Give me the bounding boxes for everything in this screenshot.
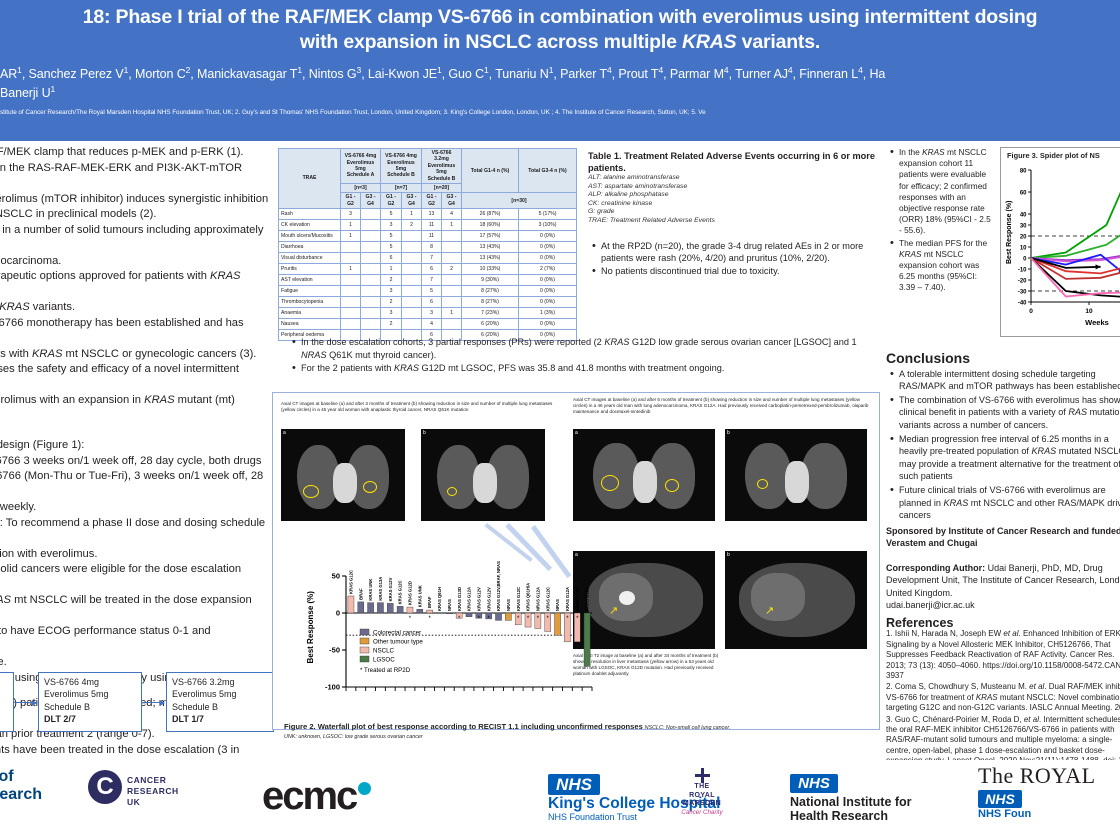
table-row: Mouth ulcers/Mucositis151117 (57%)0 (0%): [279, 231, 577, 242]
marsden-line1: THE: [660, 783, 744, 792]
rp2d-marker: *: [428, 616, 431, 622]
table-row: Nausea246 (20%)0 (0%): [279, 319, 577, 330]
cell-a-g12: 3: [341, 209, 361, 220]
cell-trae: Nausea: [279, 319, 341, 330]
cell-a-g34: [361, 275, 381, 286]
cell-total-g14: 8 (27%): [462, 286, 519, 297]
cell-a-g12: 1: [341, 231, 361, 242]
nihr-line1: National Institute for: [790, 795, 912, 809]
cell-c-g34: [442, 286, 462, 297]
cell-b-g34: [402, 308, 422, 319]
lesion-circle: [303, 485, 319, 498]
lesion-circle: [665, 479, 679, 492]
y-axis-tick: 60: [1020, 190, 1027, 196]
schema-box-1: VS-6766 4mg Everolimus 5mg Schedule A: [0, 672, 14, 732]
abbreviation: AST: aspartate aminotransferase: [588, 183, 880, 192]
text-line: This study assesses the safety and effic…: [0, 362, 272, 393]
cell-a-g12: [341, 297, 361, 308]
legend-label: NSCLC: [373, 647, 395, 654]
cell-total-g34: 0 (0%): [519, 286, 577, 297]
cell-total-g34: 0 (0%): [519, 242, 577, 253]
ecmc-logo-dot: [358, 782, 371, 795]
th-total-g34: Total G3-4 n (%): [519, 149, 577, 193]
cell-c-g34: 4: [442, 209, 462, 220]
ct-caption-b: Axial CT images at baseline (a) and afte…: [573, 397, 869, 415]
cruk-logo-mark: C: [88, 770, 122, 804]
text-line: VS-6766 with everolimus (mTOR inhibitor)…: [0, 192, 272, 208]
text-line: 6766 in combination with everolimus.: [0, 547, 272, 563]
cell-c-g12: 11: [422, 231, 442, 242]
waterfall-bar: [377, 603, 383, 613]
waterfall-bar: [555, 613, 561, 635]
cell-b-g12: 3: [381, 308, 402, 319]
cell-total-g14: 17 (57%): [462, 231, 519, 242]
waterfall-bar: [348, 596, 354, 613]
mri-tag-b: b: [727, 552, 730, 558]
schema-arrow-1: [14, 702, 36, 703]
y-axis-label: Best Response (%): [1006, 201, 1013, 264]
cell-trae: Anaemia: [279, 308, 341, 319]
cell-b-g12: 5: [381, 242, 402, 253]
cell-b-g34: [402, 297, 422, 308]
bar-category-label: KRAS Q61H/A: [526, 583, 531, 611]
ct-image-b-post: b: [725, 429, 867, 521]
cell-total-g34: 0 (0%): [519, 253, 577, 264]
list-item: The median PFS for the KRAS mt NSCLC exp…: [899, 238, 994, 294]
y-axis-tick: 40: [1020, 212, 1027, 218]
cell-c-g34: 1: [442, 308, 462, 319]
waterfall-bar: [427, 610, 433, 613]
icr-logo: ute of Research: [0, 768, 90, 804]
cell-trae: CK elevation: [279, 220, 341, 231]
text-line: There are no therapeutic options approve…: [0, 269, 272, 300]
cell-b-g12: 3: [381, 220, 402, 231]
th-group-3: VS-6766 3.2mgEverolimus5mgSchedule B: [422, 149, 462, 184]
y-axis-tick: -100: [325, 683, 340, 692]
author-list: AR1, Sanchez Perez V1, Morton C2, Manick…: [0, 55, 1120, 103]
footer-logos: ute of Research C CANCER RESEARCH UK ecm…: [0, 760, 1120, 830]
bar-category-label: KRAS G12C: [545, 587, 550, 611]
cell-a-g34: [361, 264, 381, 275]
legend-label: LGSOC: [373, 656, 395, 663]
cell-total-g34: 3 (10%): [519, 220, 577, 231]
cell-c-g12: 3: [422, 308, 442, 319]
poster-title-line1: 18: Phase I trial of the RAF/MEK clamp V…: [83, 6, 1038, 28]
schema-box-3-dlt: DLT 1/7: [172, 713, 268, 725]
waterfall-bar: [446, 613, 452, 614]
cell-total-g14: 13 (43%): [462, 242, 519, 253]
table-row: Anaemia3317 (23%)1 (3%): [279, 308, 577, 319]
cell-c-g34: 1: [442, 220, 462, 231]
y-axis-tick: -10: [1018, 267, 1027, 273]
text-line: KRAS is mutated in a number of solid tum…: [0, 223, 272, 254]
text-line: VS-6766 and everolimus with an expansion…: [0, 393, 272, 424]
cell-c-g12: 6: [422, 264, 442, 275]
cell-b-g34: [402, 286, 422, 297]
cell-c-g34: [442, 319, 462, 330]
corresponding-author-label: Corresponding Author:: [886, 563, 985, 573]
bar-category-label: KRAS G12C: [398, 580, 403, 604]
text-line: of cell growth in NSCLC in preclinical m…: [0, 207, 272, 223]
schema-box-3-line2: Everolimus 5mg: [172, 688, 268, 700]
kras-expansion-bullets: In the KRAS mt NSCLC expansion cohort 11…: [886, 147, 994, 295]
table-row: Visual disturbance6713 (43%)0 (0%): [279, 253, 577, 264]
study-design-section: Dose escalation design (Figure 1):Schedu…: [0, 438, 272, 686]
marsden-line4: Cancer Charity: [660, 809, 744, 816]
cell-total-g34: 2 (7%): [519, 264, 577, 275]
th-trae: TRAE: [279, 149, 341, 209]
cell-b-g12: 2: [381, 319, 402, 330]
th-total-g14: Total G1-4 n (%): [462, 149, 519, 193]
cell-c-g34: [442, 275, 462, 286]
cell-a-g34: [361, 209, 381, 220]
kch-nhs-box: NHS: [548, 774, 600, 795]
waterfall-bar: [495, 613, 501, 620]
cell-total-g14: 7 (23%): [462, 308, 519, 319]
rp2d-bullets: At the RP2D (n=20), the grade 3-4 drug r…: [588, 240, 880, 278]
cell-trae: Visual disturbance: [279, 253, 341, 264]
y-axis-tick: -20: [1018, 278, 1027, 284]
cell-a-g34: [361, 253, 381, 264]
rp2d-marker: *: [409, 616, 412, 622]
waterfall-bar: [397, 606, 403, 613]
conclusions-heading: Conclusions: [886, 352, 1120, 365]
bar-category-label: NRAS: [555, 599, 560, 611]
bar-category-label: KRAS G12D: [585, 587, 590, 611]
text-line: VS-6766 is a RAF/MEK clamp that reduces …: [0, 145, 272, 161]
abbreviation: ALP: alkaline phosphatase: [588, 191, 880, 200]
cell-total-g34: 0 (0%): [519, 319, 577, 330]
cell-total-g14: 8 (27%): [462, 297, 519, 308]
cell-trae: AST elevation: [279, 275, 341, 286]
text-line: Patients with all solid cancers were eli…: [0, 562, 272, 593]
ct-tag-a1: a: [283, 430, 286, 436]
y-axis-label: Best Response (%): [306, 591, 315, 664]
text-line: Primary objective: To recommend a phase …: [0, 516, 272, 547]
cell-b-g34: 2: [402, 220, 422, 231]
ct-tag-a2: b: [423, 430, 426, 436]
marsden-cross-icon: [695, 768, 710, 783]
bar-category-label: NRAS: [447, 599, 452, 611]
th-g3-g34: G3 - G4: [442, 193, 462, 209]
cell-trae: Diarrhoea: [279, 242, 341, 253]
study-schema-diagram: VS-6766 4mg Everolimus 5mg Schedule A VS…: [0, 672, 280, 732]
poster-header: 18: Phase I trial of the RAF/MEK clamp V…: [0, 0, 1120, 141]
cell-a-g12: [341, 319, 361, 330]
ct-tag-b2: b: [727, 430, 730, 436]
y-axis-tick: -50: [329, 646, 340, 655]
list-item: A tolerable intermittent dosing schedule…: [899, 368, 1120, 393]
cell-total-g34: 0 (0%): [519, 231, 577, 242]
text-line: Schedule A: VS-6766 3 weeks on/1 week of…: [0, 454, 272, 470]
cell-a-g34: [361, 242, 381, 253]
bar-category-label: KRAS G12D: [408, 581, 413, 605]
cell-c-g34: [442, 231, 462, 242]
cell-b-g34: [402, 231, 422, 242]
y-axis-tick: 10: [1020, 245, 1027, 251]
icr-logo-line2: Research: [0, 786, 90, 804]
cell-b-g12: 2: [381, 297, 402, 308]
schema-arrow-2: [142, 702, 164, 703]
table-row: AST elevation279 (30%)0 (0%): [279, 275, 577, 286]
cell-a-g34: [361, 220, 381, 231]
bar-category-label: KRAS G13A: [378, 577, 383, 601]
cell-total-g34: 0 (0%): [519, 275, 577, 286]
waterfall-bar: [387, 603, 393, 613]
ct-image-b-baseline: a: [573, 429, 715, 521]
table-row: Thrombocytopenia268 (27%)0 (0%): [279, 297, 577, 308]
list-item: For the 2 patients with KRAS G12D mt LGS…: [301, 362, 878, 375]
cell-a-g34: [361, 297, 381, 308]
cell-a-g12: [341, 253, 361, 264]
table1-abbreviations: ALT: alanine aminotransferaseAST: aspart…: [588, 174, 880, 226]
cell-total-g14: 10 (33%): [462, 264, 519, 275]
schema-box-2-line1: VS-6766 4mg: [44, 676, 136, 688]
poster-title: 18: Phase I trial of the RAF/MEK clamp V…: [0, 0, 1120, 55]
bar-category-label: KRAS G12C: [516, 587, 521, 611]
waterfall-bar: [417, 609, 423, 613]
text-line: An RP2D for VS-6766 monotherapy has been…: [0, 316, 272, 347]
cell-total-g34: 5 (17%): [519, 209, 577, 220]
cell-c-g34: 2: [442, 264, 462, 275]
corresponding-author: Corresponding Author: Udai Banerji, PhD,…: [886, 562, 1120, 612]
ecmc-logo-text: ecmc: [262, 774, 356, 818]
text-line: Patients with KRAS mt NSCLC will be trea…: [0, 593, 272, 624]
schema-box-3: VS-6766 3.2mg Everolimus 5mg Schedule B …: [166, 672, 274, 732]
cell-a-g12: [341, 275, 361, 286]
bar-category-label: NRAS: [506, 599, 511, 611]
figure2-caption-abbr1: NSCLC: Non-small cell lung cancer.: [645, 725, 731, 731]
cell-b-g12: 5: [381, 209, 402, 220]
bar-category-label: KRAS G12V: [388, 577, 393, 601]
schema-box-2: VS-6766 4mg Everolimus 5mg Schedule B DL…: [38, 672, 142, 732]
cell-a-g12: 1: [341, 220, 361, 231]
y-axis-tick: 80: [1020, 168, 1027, 174]
y-axis-tick: 50: [332, 572, 340, 581]
reference-item: 3. Guo C, Chénard-Poirier M, Roda D, et …: [886, 715, 1120, 767]
cell-trae: Thrombocytopenia: [279, 297, 341, 308]
cell-c-g12: 5: [422, 286, 442, 297]
corresponding-author-email[interactable]: udai.banerji@icr.ac.uk: [886, 600, 975, 610]
affiliations: stitute of Cancer Research/The Royal Mar…: [0, 103, 1120, 117]
y-axis-tick: 0: [336, 609, 340, 618]
th-g2-g34: G3 - G4: [402, 193, 422, 209]
nihr-nhs-box: NHS: [790, 774, 838, 793]
list-item: No patients discontinued trial due to to…: [601, 265, 880, 277]
bar-category-label: KRAS Q61H: [437, 587, 442, 611]
list-item: At the RP2D (n=20), the grade 3-4 drug r…: [601, 240, 880, 265]
cell-b-g34: [402, 319, 422, 330]
bar-category-label: KRAS G13D: [457, 587, 462, 611]
series-arrow: [1096, 264, 1101, 269]
table-row: CK elevation13211118 (60%)3 (10%): [279, 220, 577, 231]
cell-b-g12: 1: [381, 264, 402, 275]
list-item: In the KRAS mt NSCLC expansion cohort 11…: [899, 147, 994, 237]
y-axis-tick: 0: [1023, 256, 1027, 262]
text-line: Crosstalk between the RAS-RAF-MEK-ERK an…: [0, 161, 272, 192]
poster-title-line2: with expansion in NSCLC across multiple …: [0, 30, 1120, 55]
cell-c-g12: 6: [422, 297, 442, 308]
table1-legend: Table 1. Treatment Related Adverse Event…: [588, 150, 880, 278]
figure3-caption: Figure 3. Spider plot of NS: [1007, 151, 1100, 160]
bar-category-label: KRAS G12V: [486, 587, 491, 611]
cell-a-g12: [341, 242, 361, 253]
list-item: The combination of VS-6766 with everolim…: [899, 394, 1120, 432]
bar-category-label: KRAS G12V: [476, 587, 481, 611]
sponsor-statement: Sponsored by Institute of Cancer Researc…: [886, 525, 1120, 549]
y-axis-tick: -40: [1018, 300, 1027, 306]
abbreviation: CK: creatinine kinase: [588, 200, 880, 209]
schema-box-2-dlt: DLT 2/7: [44, 713, 136, 725]
marsden-line3: MARSDEN: [660, 800, 744, 809]
schema-box-1-line2: Everolimus 5mg: [0, 688, 8, 700]
cell-c-g12: 7: [422, 275, 442, 286]
cell-total-g14: 18 (60%): [462, 220, 519, 231]
royal-line1: The ROYAL: [978, 764, 1096, 788]
schema-box-1-line1: VS-6766 4mg: [0, 676, 8, 688]
text-line: efficacy in patients with KRAS mt NSCLC …: [0, 347, 272, 363]
cell-trae: Pruritis: [279, 264, 341, 275]
cell-b-g12: 3: [381, 286, 402, 297]
table1-caption: Table 1. Treatment Related Adverse Event…: [588, 150, 880, 174]
th-group-2-n: [n=7]: [381, 184, 422, 193]
bar-category-label: KRAS G12A: [565, 587, 570, 611]
figure2-caption-abbr2: UNK: unknown, LGSOC: low grade serous ov…: [284, 734, 423, 740]
cell-total-g34: 0 (0%): [519, 297, 577, 308]
th-total-n: [n=30]: [462, 193, 577, 209]
bar-category-label: KRAS G12V,BRAF, NRAS: [496, 561, 501, 611]
ct-tag-b1: a: [575, 430, 578, 436]
cell-a-g34: [361, 286, 381, 297]
th-g2-g12: G1 - G2: [381, 193, 402, 209]
reference-item: 1. Ishii N, Harada N, Joseph EW et al. E…: [886, 629, 1120, 681]
waterfall-chart: -100-50050KRAS G12CBRAFKRAS UNKKRAS G13A…: [300, 540, 600, 715]
royal-nhs-box: NHS: [978, 790, 1022, 808]
cell-trae: Fatigue: [279, 286, 341, 297]
text-line: third of lung adenocarcinoma.: [0, 254, 272, 270]
reference-item: 2. Coma S, Chowdhury S, Musteanu M. et a…: [886, 682, 1120, 713]
cell-c-g12: 8: [422, 242, 442, 253]
schema-box-2-line2: Everolimus 5mg: [44, 688, 136, 700]
waterfall-svg: -100-50050KRAS G12CBRAFKRAS UNKKRAS G13A…: [300, 540, 600, 715]
nihr-line2: Health Research: [790, 809, 912, 823]
spider-plot-svg: -40-30-20-100102030406080010Best Respons…: [1001, 164, 1120, 336]
cell-b-g34: [402, 253, 422, 264]
ct-image-a-post: b: [421, 429, 545, 521]
waterfall-bar: [505, 613, 511, 620]
cell-b-g34: [402, 264, 422, 275]
cruk-logo-text: CANCER RESEARCH UK: [127, 770, 179, 808]
th-group-1-n: [n=3]: [341, 184, 381, 193]
cell-a-g12: [341, 286, 361, 297]
waterfall-bar: [584, 613, 590, 666]
bar-category-label: BRAF: [427, 596, 432, 608]
y-axis-tick: -30: [1018, 289, 1027, 295]
mri-image-post: b ↗: [725, 551, 867, 649]
figure2-caption: Figure 2. Waterfall plot of best respons…: [284, 723, 844, 741]
cell-a-g34: [361, 308, 381, 319]
waterfall-bar: [407, 607, 413, 613]
escalation-bullets: In the dose escalation cohorts, 3 partia…: [288, 336, 878, 376]
text-line: Schedule B: VS-6766 (Mon-Thu or Tue-Fri)…: [0, 469, 272, 500]
bar-category-label: BRAF: [358, 588, 363, 600]
th-group-2: VS-6766 4mgEverolimus5mgSchedule B: [381, 149, 422, 184]
cell-b-g12: 2: [381, 275, 402, 286]
cell-b-g34: 1: [402, 209, 422, 220]
author-line-1: AR1, Sanchez Perez V1, Morton C2, Manick…: [0, 67, 885, 81]
spider-series: [1031, 225, 1120, 258]
lesion-circle: [757, 479, 768, 489]
text-line: harbouring other KRAS variants.: [0, 300, 272, 316]
left-column: VS-6766 is a RAF/MEK clamp that reduces …: [0, 145, 272, 755]
marsden-line2: ROYAL: [660, 792, 744, 801]
abbreviation: TRAE: Treatment Related Adverse Events: [588, 217, 880, 226]
royal-marsden-charity-logo: THE ROYAL MARSDEN Cancer Charity: [660, 768, 744, 816]
bar-category-label: KRAS G12A: [467, 587, 472, 611]
lesion-circle: [601, 475, 619, 491]
cell-b-g34: [402, 242, 422, 253]
text-line: Seventeen patients have been treated in …: [0, 743, 272, 756]
th-g1-g12: G1 - G2: [341, 193, 361, 209]
cell-b-g34: [402, 275, 422, 286]
schema-box-3-line1: VS-6766 3.2mg: [172, 676, 268, 688]
waterfall-bar: [368, 603, 374, 613]
waterfall-bar: [466, 613, 472, 617]
text-line: everolimus twice weekly.: [0, 500, 272, 516]
x-axis-tick: 10: [1085, 308, 1093, 315]
background-section: VS-6766 is a RAF/MEK clamp that reduces …: [0, 145, 272, 424]
cell-a-g34: [361, 231, 381, 242]
cell-trae: Mouth ulcers/Mucositis: [279, 231, 341, 242]
list-item: In the dose escalation cohorts, 3 partia…: [301, 336, 878, 361]
icr-logo-line1: ute of: [0, 768, 90, 786]
schema-box-2-line3: Schedule B: [44, 701, 136, 713]
schema-box-1-line3: Schedule A: [0, 701, 8, 713]
bar-category-label: KRAS UNK: [368, 579, 373, 601]
th-group-1: VS-6766 4mgEverolimus5mgSchedule A: [341, 149, 381, 184]
table-row: Fatigue358 (27%)0 (0%): [279, 286, 577, 297]
th-g3-g12: G1 - G2: [422, 193, 442, 209]
cell-a-g12: [341, 308, 361, 319]
legend-label: Colorectal cancer: [373, 629, 421, 636]
cell-trae: Rash: [279, 209, 341, 220]
trae-table: TRAE VS-6766 4mgEverolimus5mgSchedule A …: [278, 148, 577, 341]
ct-caption-a: Axial CT images at baseline (a) and afte…: [281, 401, 561, 413]
cell-a-g34: [361, 319, 381, 330]
cell-total-g14: 26 (87%): [462, 209, 519, 220]
figure2-caption-bold: Figure 2. Waterfall plot of best respons…: [284, 722, 643, 731]
nihr-logo: NHS National Institute for Health Resear…: [790, 774, 912, 823]
x-axis-tick: 0: [1029, 308, 1033, 315]
list-item: Future clinical trials of VS-6766 with e…: [899, 484, 1120, 522]
cell-c-g34: [442, 242, 462, 253]
trae-table-body: Rash35113426 (87%)5 (17%)CK elevation132…: [279, 209, 577, 341]
y-axis-tick: 20: [1020, 234, 1027, 240]
royal-marsden-nhs-logo: The ROYAL NHS NHS Foun: [978, 764, 1096, 820]
cell-c-g12: 7: [422, 253, 442, 264]
ct-image-a-baseline: a: [281, 429, 405, 521]
cell-c-g12: 13: [422, 209, 442, 220]
cruk-logo: C CANCER RESEARCH UK: [88, 770, 179, 808]
legend-note: * Treated at RP2D: [360, 667, 411, 674]
abbreviation: G: grade: [588, 208, 880, 217]
references-section: References 1. Ishii N, Harada N, Joseph …: [886, 618, 1120, 768]
references-heading: References: [886, 618, 1120, 628]
cell-c-g12: 11: [422, 220, 442, 231]
cell-total-g14: 13 (43%): [462, 253, 519, 264]
x-axis-label: Weeks: [1085, 318, 1109, 327]
y-axis-tick: 30: [1020, 223, 1027, 229]
